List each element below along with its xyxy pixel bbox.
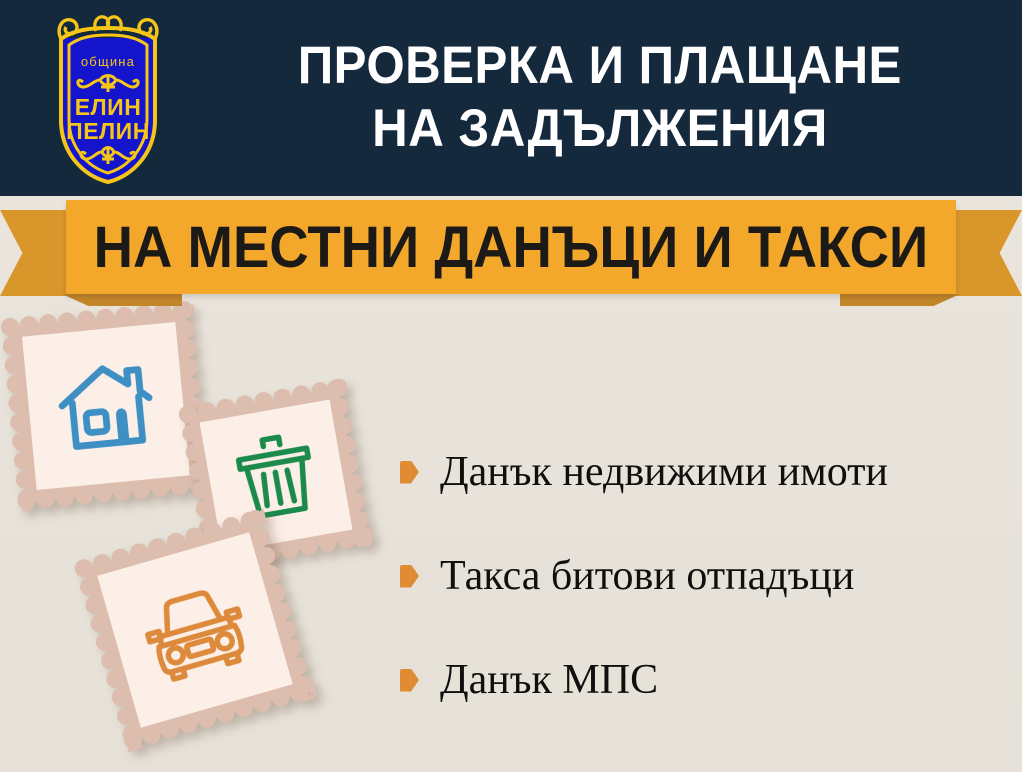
tax-type-list: Данък недвижими имоти Такса битови отпад…	[400, 420, 1020, 732]
header-bar: община ЕЛИН ПЕЛИН	[0, 0, 1022, 196]
car-icon	[129, 564, 260, 695]
list-item-label: Данък МПС	[440, 658, 658, 702]
stamp-card-vehicle	[84, 519, 307, 742]
title-line-2: НА ЗАДЪЛЖЕНИЯ	[372, 98, 828, 161]
stamp-card-property	[10, 310, 202, 502]
list-item[interactable]: Данък недвижими имоти	[400, 420, 1020, 524]
ribbon-band: НА МЕСТНИ ДАНЪЦИ И ТАКСИ	[66, 200, 956, 294]
arrow-bullet-icon	[400, 461, 419, 484]
list-item-label: Данък недвижими имоти	[440, 450, 888, 494]
municipality-logo: община ЕЛИН ПЕЛИН	[38, 8, 178, 188]
title-line-1: ПРОВЕРКА И ПЛАЩАНЕ	[298, 35, 902, 98]
page-title: ПРОВЕРКА И ПЛАЩАНЕ НА ЗАДЪЛЖЕНИЯ	[190, 12, 1010, 184]
ribbon-label: НА МЕСТНИ ДАНЪЦИ И ТАКСИ	[94, 214, 929, 281]
list-item[interactable]: Такса битови отпадъци	[400, 524, 1020, 628]
svg-text:ПЕЛИН: ПЕЛИН	[66, 118, 150, 144]
list-item-label: Такса битови отпадъци	[440, 554, 854, 598]
stamp-paper	[22, 322, 190, 490]
ribbon-banner: НА МЕСТНИ ДАНЪЦИ И ТАКСИ	[0, 196, 1022, 308]
arrow-bullet-icon	[400, 565, 419, 588]
stamp-paper	[97, 532, 292, 727]
list-item[interactable]: Данък МПС	[400, 628, 1020, 732]
ribbon-fold-right	[840, 294, 960, 306]
svg-text:ЕЛИН: ЕЛИН	[75, 94, 142, 120]
ribbon-fold-left	[62, 294, 182, 306]
house-icon	[49, 349, 162, 462]
poster-canvas: община ЕЛИН ПЕЛИН	[0, 0, 1022, 772]
coat-of-arms-icon: община ЕЛИН ПЕЛИН	[38, 8, 178, 188]
arrow-bullet-icon	[400, 669, 419, 692]
svg-text:община: община	[81, 54, 135, 69]
stamp-collection	[0, 300, 420, 772]
